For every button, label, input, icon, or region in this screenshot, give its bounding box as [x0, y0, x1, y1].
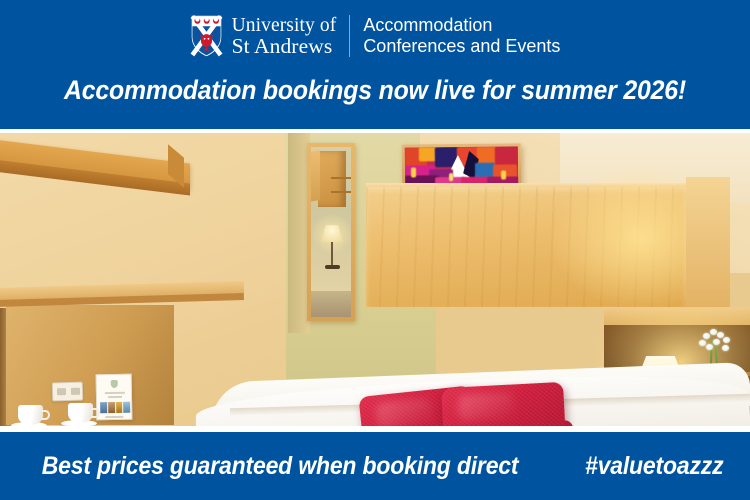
- mirror-reflected-cabinet: [318, 151, 346, 207]
- department-name: Accommodation Conferences and Events: [363, 15, 560, 58]
- st-andrews-crest-icon: [190, 14, 223, 58]
- university-name-line1: University of: [232, 15, 337, 36]
- mirror-reflected-bed: [311, 291, 351, 317]
- bed-headboard: [366, 187, 686, 307]
- accommodation-promo-banner: University of St Andrews Accommodation C…: [0, 0, 750, 500]
- university-name-line2: St Andrews: [232, 36, 337, 57]
- footer-tagline: Best prices guaranteed when booking dire…: [41, 452, 518, 481]
- logo-divider: [349, 15, 350, 57]
- department-name-line2: Conferences and Events: [363, 36, 560, 58]
- brand-logo-lockup: University of St Andrews Accommodation C…: [0, 8, 750, 64]
- electrical-socket: [52, 382, 83, 402]
- red-cushion: [441, 382, 567, 426]
- department-name-line1: Accommodation: [363, 15, 560, 37]
- information-card: [96, 374, 133, 421]
- university-name: University of St Andrews: [232, 15, 337, 57]
- bedroom-photo: [0, 133, 750, 426]
- wall-mirror: [307, 143, 355, 321]
- headline-text: Accommodation bookings now live for summ…: [30, 74, 720, 106]
- header-bar: University of St Andrews Accommodation C…: [0, 0, 750, 130]
- footer-bar: Best prices guaranteed when booking dire…: [0, 432, 750, 500]
- footer-hashtag: #valuetoazzz: [585, 452, 723, 481]
- headboard-right-panel: [686, 177, 730, 309]
